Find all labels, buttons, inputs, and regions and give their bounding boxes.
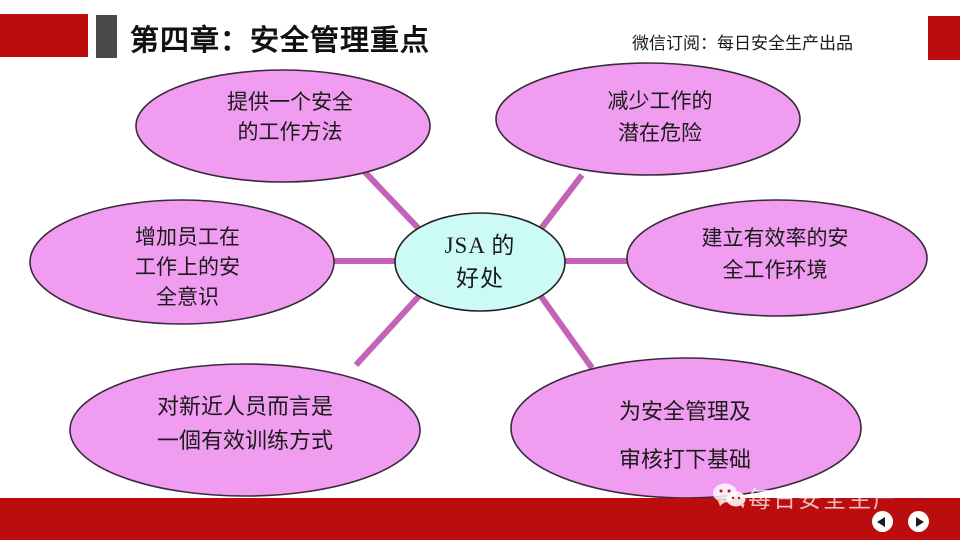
node-ellipse-top-right	[496, 63, 800, 175]
wechat-icon	[712, 483, 746, 509]
diagram-canvas	[0, 0, 960, 540]
node-ellipse-middle-right	[627, 200, 927, 316]
connector-center-to-bottom-left	[356, 295, 420, 365]
slide-canvas: 第四章：安全管理重点 微信订阅：每日安全生产出品	[0, 0, 960, 540]
arrow-left-icon	[877, 517, 885, 527]
node-ellipse-bottom-right	[511, 358, 861, 498]
connector-center-to-top-right	[540, 175, 582, 230]
prev-slide-button[interactable]	[872, 511, 893, 532]
next-slide-button[interactable]	[908, 511, 929, 532]
connector-center-to-bottom-right	[540, 295, 592, 368]
watermark-text: 每日安全生产	[748, 480, 898, 514]
arrow-right-icon	[916, 517, 924, 527]
node-ellipse-top-left	[136, 70, 430, 182]
node-ellipse-middle-left	[30, 200, 334, 324]
connector-center-to-top-left	[363, 170, 420, 230]
node-ellipse-bottom-left	[70, 364, 420, 496]
center-ellipse	[395, 213, 565, 311]
